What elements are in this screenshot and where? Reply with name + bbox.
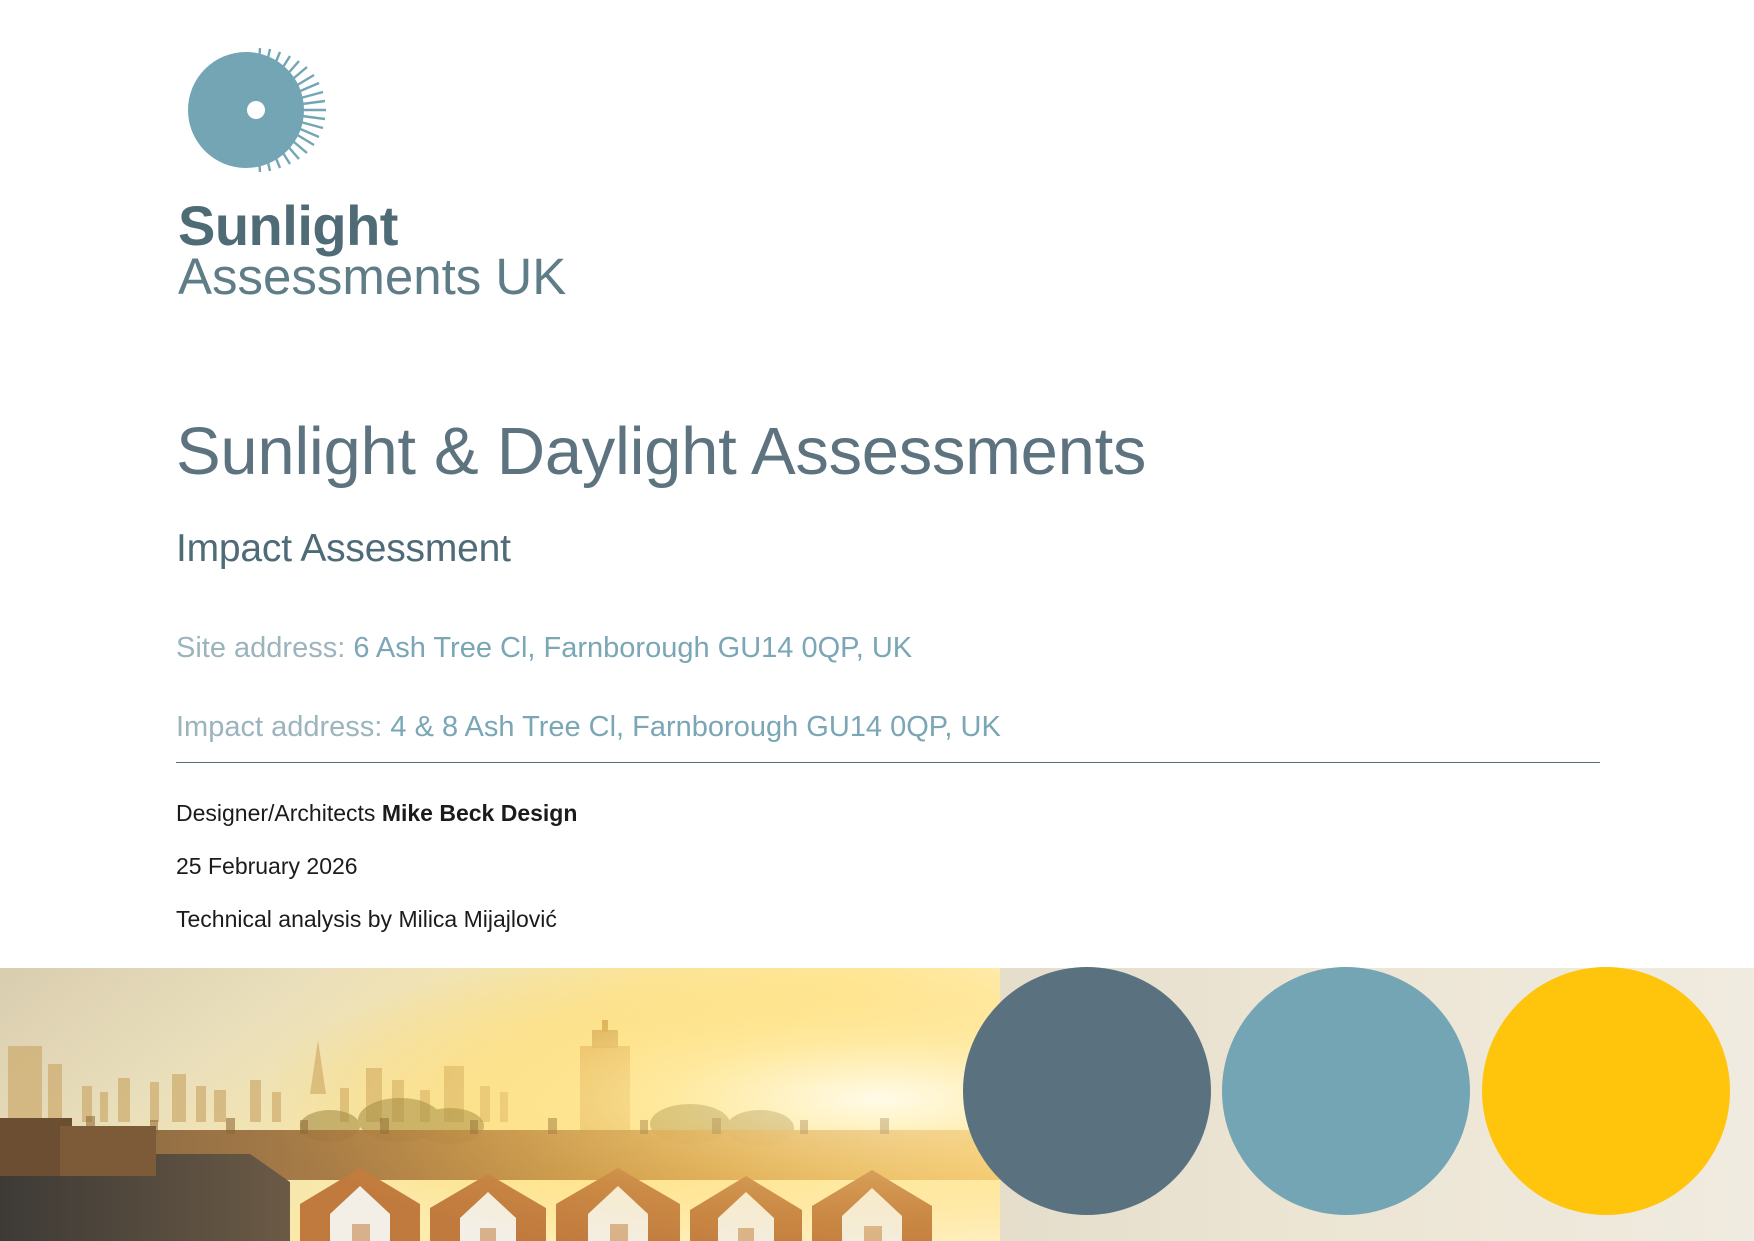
page-subtitle: Impact Assessment (176, 527, 511, 571)
impact-address-value: 4 & 8 Ash Tree Cl, Farnborough GU14 0QP,… (390, 711, 1000, 743)
designer-label: Designer/Architects (176, 800, 375, 826)
brand-wordmark: Sunlight Assessments UK (178, 200, 578, 300)
site-address-label: Site address: (176, 632, 345, 664)
brand-logo: Sunlight Assessments UK (178, 44, 578, 300)
impact-address-label: Impact address: (176, 711, 382, 743)
page-title: Sunlight & Daylight Assessments (176, 413, 1146, 490)
yellow-circle-icon (1482, 967, 1730, 1215)
slate-circle-icon (963, 967, 1211, 1215)
site-address-value: 6 Ash Tree Cl, Farnborough GU14 0QP, UK (353, 632, 912, 664)
technical-analyst: Technical analysis by Milica Mijajlović (176, 906, 557, 933)
document-date: 25 February 2026 (176, 853, 358, 880)
impact-address: Impact address: 4 & 8 Ash Tree Cl, Farnb… (176, 711, 1001, 744)
site-address: Site address: 6 Ash Tree Cl, Farnborough… (176, 632, 912, 665)
blue-circle-icon (1222, 967, 1470, 1215)
horizontal-divider (176, 762, 1600, 763)
designer-row: Designer/Architects Mike Beck Design (176, 800, 577, 827)
designer-value: Mike Beck Design (382, 800, 578, 826)
brand-name-line2: Assessments UK (178, 254, 578, 301)
brand-name-line1: Sunlight (178, 200, 578, 252)
sun-rays-icon (178, 44, 350, 184)
